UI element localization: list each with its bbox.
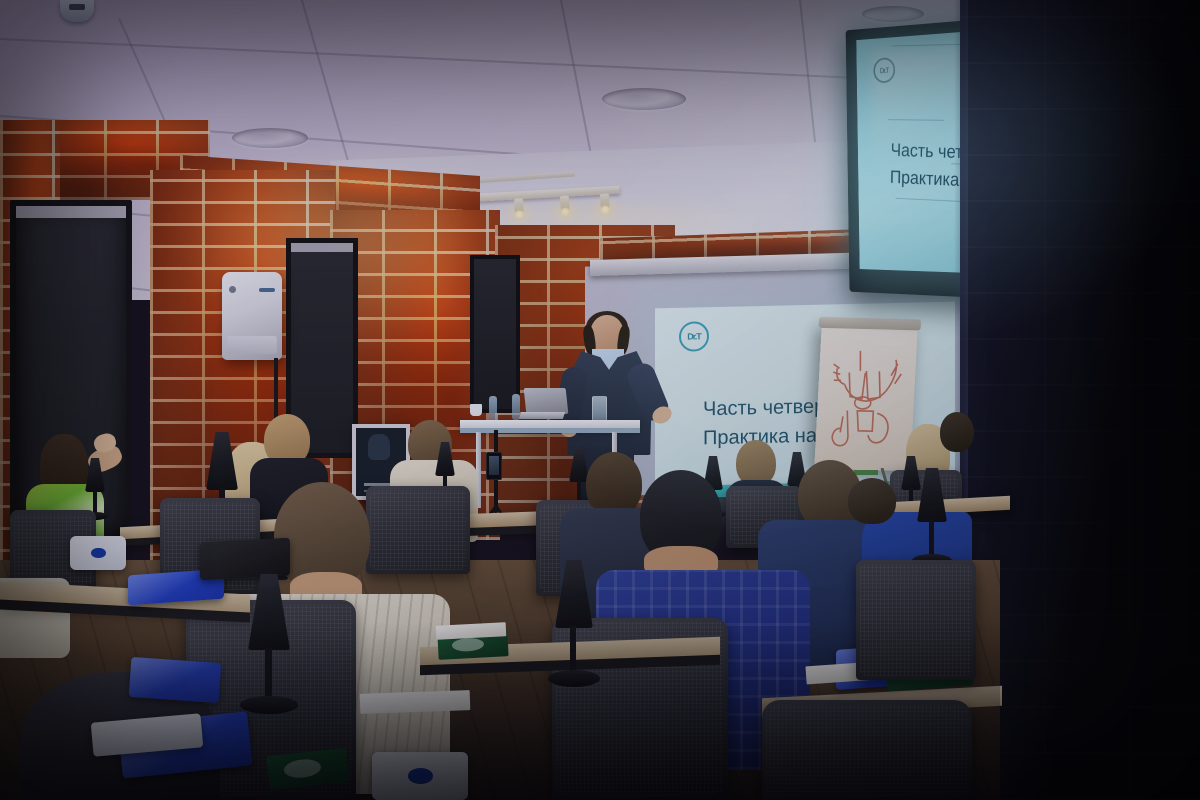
smoke-detector-icon [60,0,94,22]
attendee-head [586,452,642,516]
attendee-head [940,412,974,452]
handout-paper-3 [360,690,471,714]
ceiling-vent-right [602,88,686,110]
ceiling-vent-far [862,6,924,22]
seminar-room-photo: Dr.T Часть четвертая Практика на фа [0,0,1200,800]
white-handpiece-device[interactable] [70,536,126,570]
smartphone-camera[interactable] [486,452,502,480]
desk-lamp-right-front[interactable] [912,468,952,568]
flipchart-easel [814,324,918,471]
projector-slide-logo: Dr.T [679,321,709,352]
spot-light-5 [600,193,610,209]
desk-lamp-foreground-right[interactable] [240,574,298,714]
ceiling-vent-left [232,128,308,148]
presenter-laptop-base[interactable] [519,412,565,419]
flipchart-drawing-icon [814,324,918,471]
blue-bag-under-table [129,657,222,703]
coffee-cup [470,404,482,416]
desk-lamp-foreground-left[interactable] [548,560,600,688]
chair-foreground-right[interactable] [762,700,972,800]
chair-right-mid[interactable] [856,560,976,680]
chair-left-3[interactable] [366,486,470,574]
presenter-laptop-lid[interactable] [524,388,569,414]
air-purifier-unit [222,272,282,360]
attendee-head [848,478,896,524]
water-bottle-1 [489,396,497,422]
water-bottle-2 [512,394,520,420]
spot-light-4 [560,196,570,212]
white-device-foreground[interactable] [372,752,468,800]
window-far [470,255,520,413]
spot-light-3 [514,198,524,214]
